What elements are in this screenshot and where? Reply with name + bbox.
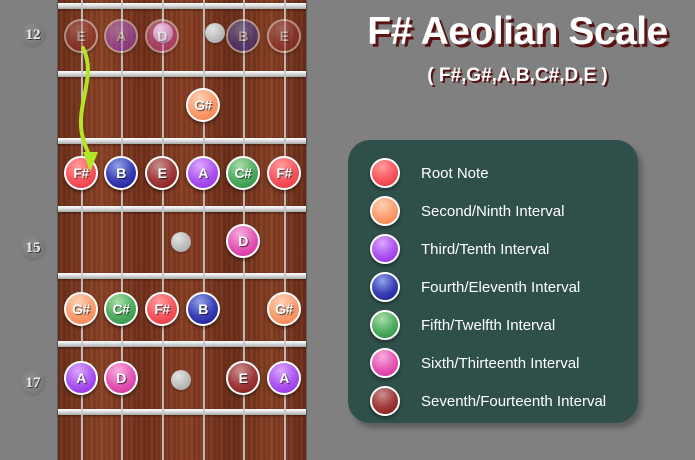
fretboard: [58, 0, 306, 460]
note-marker[interactable]: D: [145, 19, 179, 53]
fret-wire: [58, 138, 306, 144]
note-marker[interactable]: E: [145, 156, 179, 190]
note-marker[interactable]: D: [226, 224, 260, 258]
legend-swatch-fourth: [370, 272, 400, 302]
guitar-string: [162, 0, 164, 460]
fret-wire: [58, 273, 306, 279]
legend-label: Fourth/Eleventh Interval: [421, 279, 580, 296]
note-marker[interactable]: A: [104, 19, 138, 53]
fret-number-12: 12: [20, 22, 46, 48]
legend-row: Fourth/Eleventh Interval: [370, 268, 638, 306]
title-block: F# Aeolian Scale ( F#,G#,A,B,C#,D,E ): [340, 10, 695, 87]
page-title: F# Aeolian Scale: [340, 10, 695, 54]
note-marker[interactable]: B: [226, 19, 260, 53]
fretboard-area: 121517 EADBEG#F#BEAC#F#DG#C#F#BG#ADEA: [0, 0, 335, 460]
note-marker[interactable]: F#: [267, 156, 301, 190]
legend-row: Third/Tenth Interval: [370, 230, 638, 268]
note-marker[interactable]: E: [267, 19, 301, 53]
note-marker[interactable]: C#: [104, 292, 138, 326]
legend-swatch-second: [370, 196, 400, 226]
legend-row: Fifth/Twelfth Interval: [370, 306, 638, 344]
note-marker[interactable]: G#: [267, 292, 301, 326]
legend-label: Sixth/Thirteenth Interval: [421, 355, 579, 372]
legend-swatch-sixth: [370, 348, 400, 378]
note-marker[interactable]: A: [267, 361, 301, 395]
note-marker[interactable]: F#: [64, 156, 98, 190]
note-marker[interactable]: G#: [64, 292, 98, 326]
fret-inlay-dot: [171, 370, 191, 390]
note-marker[interactable]: F#: [145, 292, 179, 326]
fret-wire: [58, 409, 306, 415]
legend-swatch-third: [370, 234, 400, 264]
note-marker[interactable]: A: [186, 156, 220, 190]
legend-row: Sixth/Thirteenth Interval: [370, 344, 638, 382]
note-marker[interactable]: C#: [226, 156, 260, 190]
guitar-string: [203, 0, 205, 460]
fret-wire: [58, 206, 306, 212]
note-marker[interactable]: B: [186, 292, 220, 326]
note-marker[interactable]: E: [64, 19, 98, 53]
fret-inlay-dot: [171, 232, 191, 252]
note-marker[interactable]: A: [64, 361, 98, 395]
fret-wire: [58, 341, 306, 347]
legend-row: Seventh/Fourteenth Interval: [370, 382, 638, 420]
fret-number-17: 17: [20, 370, 46, 396]
note-marker[interactable]: E: [226, 361, 260, 395]
legend-swatch-seventh: [370, 386, 400, 416]
legend-row: Root Note: [370, 154, 638, 192]
legend-swatch-fifth: [370, 310, 400, 340]
note-marker[interactable]: B: [104, 156, 138, 190]
fret-wire: [58, 71, 306, 77]
scale-notes-subtitle: ( F#,G#,A,B,C#,D,E ): [340, 65, 695, 87]
legend-label: Second/Ninth Interval: [421, 203, 564, 220]
note-marker[interactable]: D: [104, 361, 138, 395]
note-marker[interactable]: G#: [186, 88, 220, 122]
scale-diagram-page: 121517 EADBEG#F#BEAC#F#DG#C#F#BG#ADEA F#…: [0, 0, 695, 460]
fret-wire: [58, 3, 306, 9]
fret-inlay-dot: [205, 23, 225, 43]
legend-panel: Root NoteSecond/Ninth IntervalThird/Tent…: [348, 140, 638, 423]
legend-label: Root Note: [421, 165, 489, 182]
fret-number-15: 15: [20, 235, 46, 261]
legend-label: Fifth/Twelfth Interval: [421, 317, 555, 334]
legend-label: Seventh/Fourteenth Interval: [421, 393, 606, 410]
legend-row: Second/Ninth Interval: [370, 192, 638, 230]
legend-swatch-root: [370, 158, 400, 188]
legend-label: Third/Tenth Interval: [421, 241, 549, 258]
